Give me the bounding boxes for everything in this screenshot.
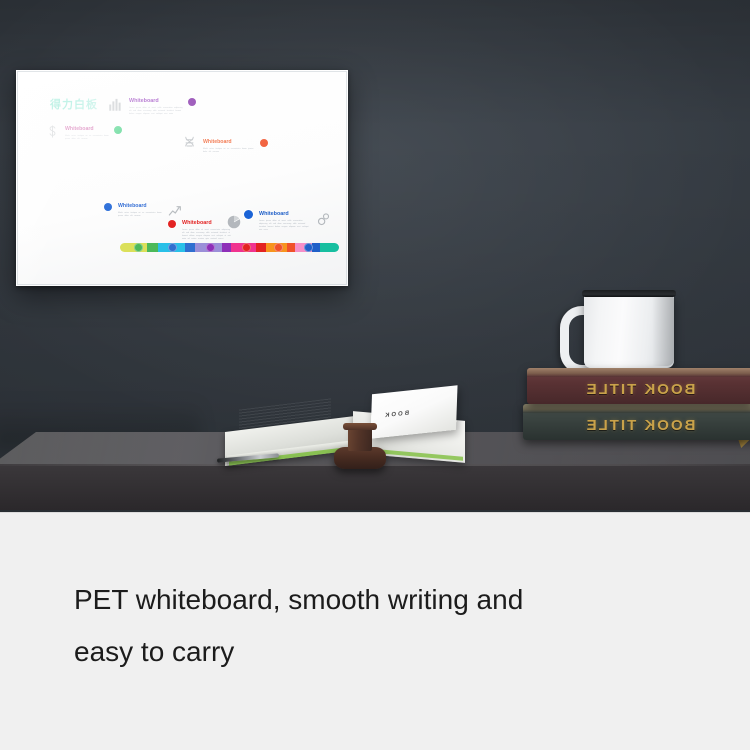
info-node-label: Whiteboard (182, 221, 232, 226)
open-book-page-text: BOOK (383, 411, 409, 420)
product-image: 得力白板 Whiteboard Lorem ipsum dolor sit am… (0, 0, 750, 750)
pie-chart-icon (226, 214, 242, 230)
timeline-segment (287, 243, 295, 252)
timeline-segment (147, 243, 158, 252)
book-upper: BOOK TITLE (527, 368, 750, 404)
info-node-bar-chart: Whiteboard Lorem ipsum dolor sit amet nu… (129, 99, 183, 116)
dna-icon (182, 136, 197, 151)
info-node-label: Whiteboard (259, 212, 311, 217)
book-title: BOOK TITLE (523, 417, 750, 434)
enamel-mug (560, 288, 678, 370)
timeline-dot (242, 243, 251, 252)
book-stack: BOOK TITLE BOOK TITLE (527, 368, 750, 450)
info-node-dna: Whiteboard Morbi netus tristique mi nu c… (203, 140, 255, 154)
info-node-body: Morbi netus tristique mi nu consectetur … (118, 212, 166, 218)
info-node-pie: Whiteboard Lorem ipsum dolor sit amet nu… (259, 212, 311, 232)
whiteboard-surface: 得力白板 Whiteboard Lorem ipsum dolor sit am… (16, 70, 348, 286)
info-node-body: Morbi netus tristique mi nu consectetur … (65, 135, 111, 141)
info-dot-blue-left (104, 203, 112, 211)
caption-divider (0, 512, 750, 513)
timeline-segment (312, 243, 320, 252)
info-dot-green (114, 126, 122, 134)
book-page-edge (523, 404, 750, 413)
dollar-icon (46, 124, 59, 139)
caption-line-1: PET whiteboard, smooth writing and (74, 574, 684, 626)
info-dot-orange (260, 139, 268, 147)
timeline-dot (168, 243, 177, 252)
wooden-stamp (334, 425, 386, 470)
info-node-left-dot: Whiteboard Morbi netus tristique mi nu c… (118, 204, 166, 218)
gear-link-icon (316, 212, 331, 227)
timeline-segment (256, 243, 266, 252)
photo-scene: 得力白板 Whiteboard Lorem ipsum dolor sit am… (0, 0, 750, 512)
info-node-label: Whiteboard (65, 127, 111, 132)
desk-edge (0, 464, 750, 510)
info-node-label: Whiteboard (203, 140, 255, 145)
caption-panel: PET whiteboard, smooth writing and easy … (0, 512, 750, 750)
bar-chart-icon (108, 97, 123, 112)
timeline-segment (320, 243, 339, 252)
book-lower: BOOK TITLE (523, 404, 750, 440)
timeline-dot (134, 243, 143, 252)
whiteboard-brand-title: 得力白板 (50, 96, 98, 112)
book-page-edge (527, 368, 750, 377)
timeline-segment (222, 243, 232, 252)
info-node-body: Lorem ipsum dolor sit amet nulla consect… (129, 107, 183, 116)
whiteboard-product: 得力白板 Whiteboard Lorem ipsum dolor sit am… (16, 70, 348, 286)
caption-line-2: easy to carry (74, 626, 684, 678)
info-node-label: Whiteboard (129, 99, 183, 104)
timeline-dot (206, 243, 215, 252)
info-node-body: Lorem ipsum dolor sit amet nulla consect… (259, 220, 311, 232)
trend-up-icon (168, 204, 184, 218)
info-node-body: Lorem ipsum dolor sit amet consectetur a… (182, 229, 232, 241)
info-dot-purple (188, 98, 196, 106)
info-dot-blue-right (244, 210, 253, 219)
info-node-label: Whiteboard (118, 204, 166, 209)
mug-shading (652, 296, 674, 366)
info-node-dollar: Whiteboard Morbi netus tristique mi nu c… (65, 127, 111, 141)
timeline-dot (274, 243, 283, 252)
info-node-trend: Whiteboard Lorem ipsum dolor sit amet co… (182, 221, 232, 241)
mug-rim (582, 290, 676, 297)
stamp-cap (343, 423, 377, 430)
info-dot-red (168, 220, 176, 228)
timeline-segment (185, 243, 195, 252)
info-node-body: Morbi netus tristique mi nu consectetur … (203, 148, 255, 154)
book-title: BOOK TITLE (527, 381, 750, 398)
timeline-dot (304, 243, 313, 252)
caption-text: PET whiteboard, smooth writing and easy … (74, 574, 684, 678)
